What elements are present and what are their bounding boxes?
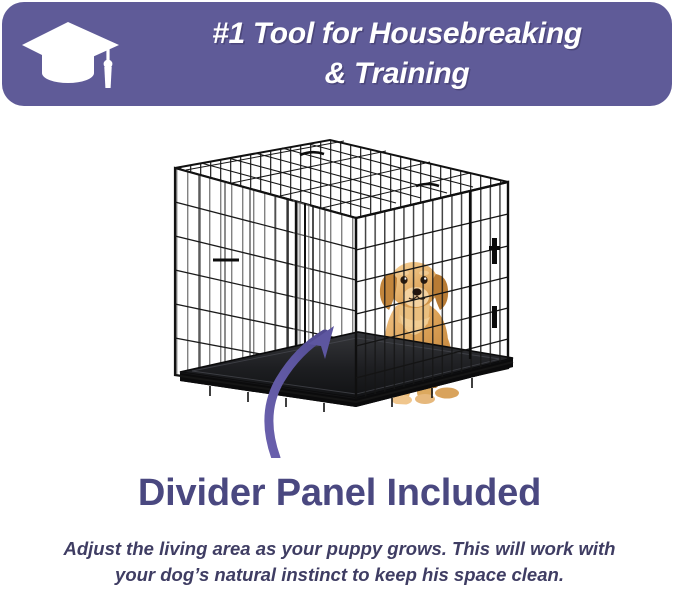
crate-illustration: [0, 110, 679, 458]
banner-title: #1 Tool for Housebreaking & Training: [212, 14, 582, 93]
graduation-cap-icon: [18, 16, 126, 94]
page-subcopy: Adjust the living area as your puppy gro…: [34, 536, 645, 589]
product-image: [0, 110, 679, 458]
banner-title-wrap: #1 Tool for Housebreaking & Training: [132, 8, 662, 100]
page-headline: Divider Panel Included: [0, 472, 679, 515]
promo-banner: #1 Tool for Housebreaking & Training: [2, 2, 672, 106]
